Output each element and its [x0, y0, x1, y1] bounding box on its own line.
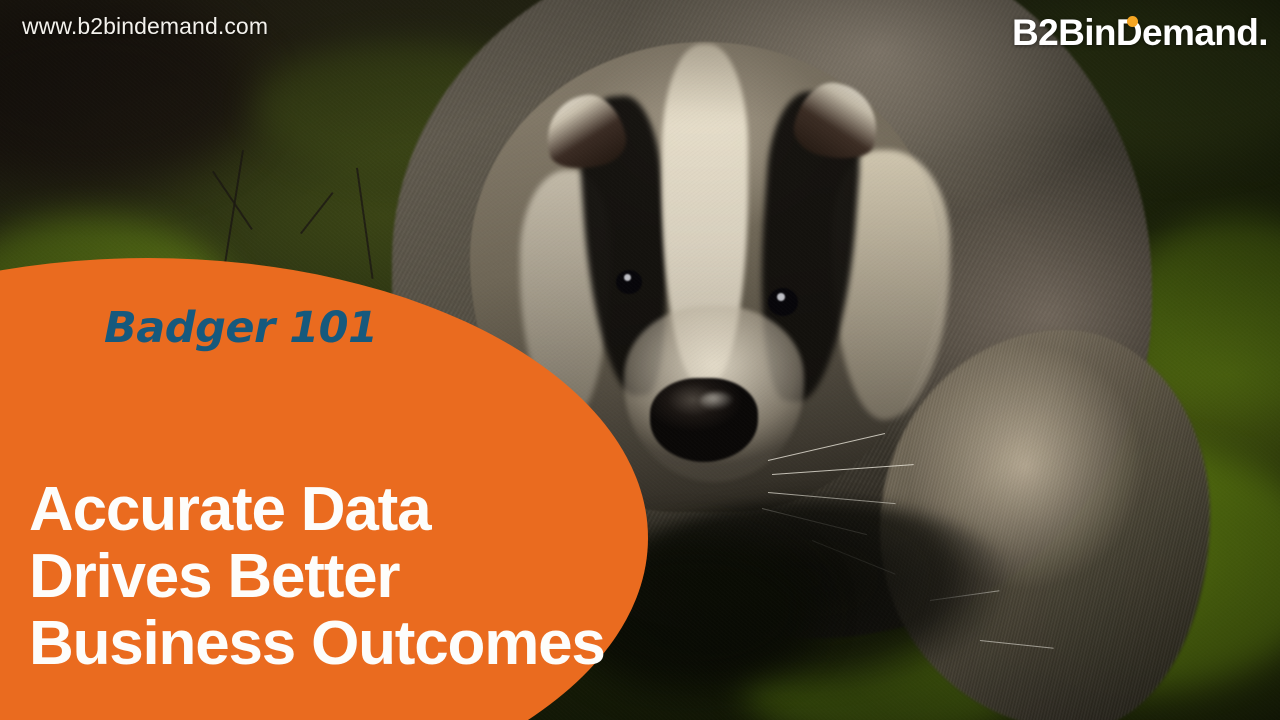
website-url: www.b2bindemand.com — [22, 13, 268, 40]
headline-line-3: Business Outcomes — [29, 610, 639, 677]
headline-line-2: Drives Better — [29, 543, 639, 610]
brand-logo-text-wrap: B2BinDemand. — [1012, 12, 1268, 54]
series-kicker-label: Badger 101 — [104, 303, 377, 353]
brand-logo: B2BinDemand. — [1012, 12, 1268, 54]
headline: Accurate Data Drives Better Business Out… — [29, 476, 639, 677]
brand-logo-label: B2BinDemand. — [1012, 12, 1268, 53]
brand-logo-dot-icon — [1127, 16, 1138, 27]
headline-line-1: Accurate Data — [29, 476, 639, 543]
banner-canvas: www.b2bindemand.com B2BinDemand. Badger … — [0, 0, 1280, 720]
